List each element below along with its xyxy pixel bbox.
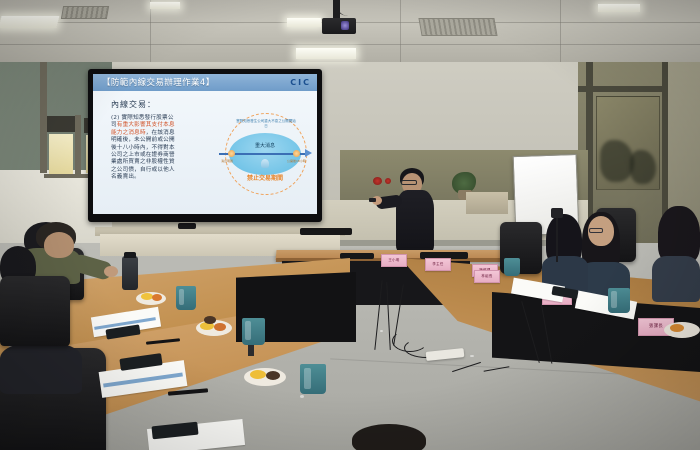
snack-item-3b <box>266 371 280 380</box>
diagram-top-caption: 實際知悉發生公司重大不息之公開開始日 <box>236 119 296 129</box>
name-placard-2-label: 李主任 <box>426 261 450 266</box>
mug-highlight-2 <box>245 321 251 340</box>
name-placard-2: 李主任 <box>425 258 451 271</box>
snack-plate-3 <box>244 368 286 386</box>
slide-body: 內線交易： (2) 實際知悉發行股票公司有重大影響其支付本息能力之消息時，在該消… <box>93 91 317 214</box>
av-device <box>178 223 196 229</box>
table-equipment-bar-2 <box>340 253 374 259</box>
ceiling-light-e <box>150 2 180 9</box>
snack-item-1b <box>152 294 162 301</box>
microphone-head-icon <box>551 208 563 218</box>
floor-speckle-2 <box>470 355 474 357</box>
diagram-node-right <box>293 150 300 157</box>
ceiling-light-c <box>296 48 356 59</box>
diagram-bottom-label: 禁止交易期間 <box>235 175 295 183</box>
cic-logo: CIC <box>290 78 311 87</box>
ceiling-light-d <box>598 4 640 12</box>
floor-speckle-4 <box>300 395 304 398</box>
name-placard-4: 林組長 <box>474 270 500 283</box>
slide-diagram: 實際知悉發生公司重大不息之公開開始日 消息明確 公開後18小時 重大消息 禁止交… <box>219 109 311 201</box>
ceiling-light-a <box>0 16 59 28</box>
ceiling-grid-line-v2 <box>400 0 401 62</box>
ceiling-light-b <box>287 18 321 27</box>
artwork-shape-a <box>600 140 634 182</box>
ceiling-air-vent <box>418 18 497 36</box>
wall-red-emblem <box>373 177 382 185</box>
attendee-grey-body <box>0 344 82 394</box>
diagram-node-left <box>228 150 235 157</box>
water-bottle-cap <box>124 252 136 258</box>
window-mullion <box>40 58 47 173</box>
slide-paragraph: (2) 實際知悉發行股票公司有重大影響其支付本息能力之消息時，在該消息明確後，未… <box>111 115 177 182</box>
projector-lens <box>341 21 349 30</box>
presenter-glasses-icon <box>401 180 417 185</box>
presentation-remote[interactable] <box>369 198 376 202</box>
window-header-left <box>47 116 75 132</box>
mug-highlight-3 <box>304 368 311 389</box>
slide-paragraph-post: ，在該消息明確後，未公開前或公開後十八小時內，不得對本公司之上市或在證券商營業處… <box>111 130 175 180</box>
attendee-right-a-glasses-icon <box>589 228 603 233</box>
attendee-right-c-body <box>652 256 700 302</box>
ceiling-grid-line-v3 <box>560 0 561 62</box>
ceiling-air-vent-2 <box>61 6 109 19</box>
microphone-stand <box>556 216 558 262</box>
snack-item-2b <box>214 323 226 331</box>
slide-title: 【防範內線交易辦理作業4】 <box>102 76 215 88</box>
ceiling-grid-line-2 <box>0 44 700 45</box>
mug-highlight-1 <box>179 289 184 305</box>
side-cabinet <box>466 192 508 214</box>
attendee-left-upper-head <box>44 232 74 258</box>
name-placard-1-label: 王小明 <box>382 257 406 262</box>
mug-highlight-right <box>611 291 617 308</box>
name-placard-4-label: 林組長 <box>475 273 499 278</box>
floor-speckle <box>380 330 383 332</box>
window-frame-vertical <box>75 115 81 177</box>
slide-screen: 【防範內線交易辦理作業4】 CIC 內線交易： (2) 實際知悉發行股票公司有重… <box>93 74 317 214</box>
snack-item-3 <box>250 370 266 379</box>
projector <box>322 18 356 34</box>
snack-item-2c <box>204 316 216 324</box>
attendee-left-far-hand <box>104 266 118 277</box>
tea-mug-right-1[interactable] <box>504 258 520 276</box>
diagram-center-label: 重大消息 <box>241 142 289 149</box>
conference-room-photo: 【防範內線交易辦理作業4】 CIC 內線交易： (2) 實際知悉發行股票公司有重… <box>0 0 700 450</box>
projector-mount-pole <box>333 0 340 19</box>
chair-left-mid <box>0 276 70 346</box>
wall-red-emblem-2 <box>385 178 391 184</box>
diagram-center-icon <box>261 159 269 168</box>
attendee-bottom-hair <box>352 424 426 450</box>
soundbar <box>300 228 352 235</box>
diagram-node-left-label: 消息明確 <box>221 159 233 163</box>
diagram-timeline-arrow-icon <box>305 149 312 157</box>
diagram-node-right-label: 公開後18小時 <box>287 159 306 163</box>
slide-heading: 內線交易： <box>111 99 156 110</box>
snack-item-right <box>670 324 684 332</box>
artwork-shape-b <box>630 150 656 184</box>
water-bottle[interactable] <box>122 256 138 290</box>
ceiling-grid-line-v <box>150 0 151 62</box>
name-placard-1: 王小明 <box>381 254 407 267</box>
window-left <box>49 134 73 176</box>
